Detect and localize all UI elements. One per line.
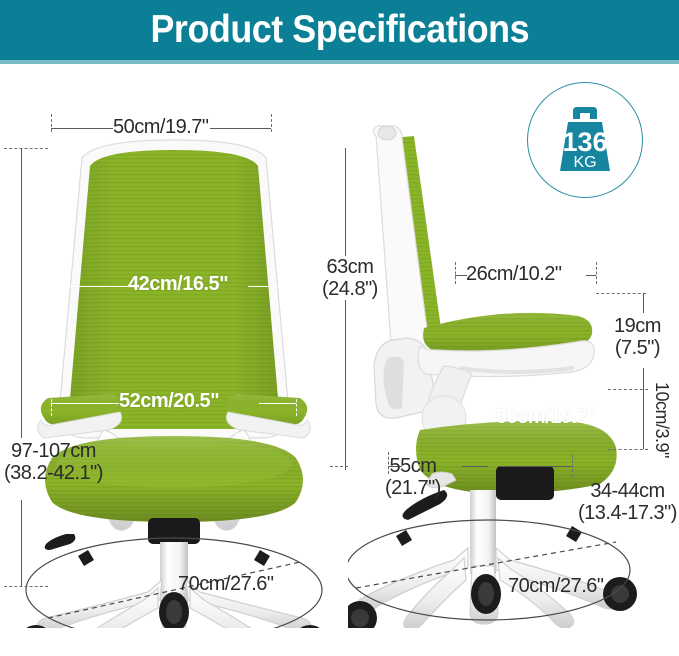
dim-label-seat-width: 52cm/20.5": [119, 390, 219, 412]
dim-label-seat-height: 34-44cm (13.4-17.3"): [578, 480, 677, 525]
dim-label-base-diameter-front: 70cm/27.6": [178, 573, 274, 595]
header-banner: Product Specifications: [0, 0, 679, 60]
dim-line-height-lower: [21, 500, 22, 586]
dim-ext-height-top: [4, 148, 48, 149]
dim-label-armrest-height-line1: 19cm: [614, 315, 661, 337]
dim-line-seat-thickness: [643, 389, 644, 449]
dim-line-back-width-right: [210, 128, 271, 129]
dim-label-overall-height-line1: 97-107cm: [4, 440, 103, 462]
dim-line-backrest-height-lower: [345, 300, 346, 470]
dim-ext-seat-bottom: [608, 449, 648, 450]
page-title: Product Specifications: [150, 8, 529, 52]
dim-label-base-depth-line1: 55cm: [385, 455, 441, 477]
dim-label-armrest-height-line2: (7.5"): [614, 337, 661, 359]
dim-tick-armrest-depth-right: [596, 262, 597, 284]
dim-line-backrest-width-left: [69, 286, 129, 287]
dim-line-base-depth-right: [462, 466, 488, 467]
dim-line-seat-width-left: [51, 403, 119, 404]
dim-line-armrest-height-upper: [643, 293, 644, 313]
seat-mechanism: [148, 518, 200, 544]
dim-line-armrest-depth-right: [586, 275, 596, 276]
dim-line-seat-height-base: [500, 466, 572, 467]
dim-label-back-width: 50cm/19.7": [113, 116, 209, 138]
dim-ext-height-bottom: [4, 586, 48, 587]
dim-label-base-depth: 55cm (21.7"): [385, 455, 441, 500]
dim-label-backrest-height-line1: 63cm: [322, 256, 378, 278]
header-divider: [0, 60, 679, 64]
dim-label-armrest-height: 19cm (7.5"): [614, 315, 661, 360]
dim-label-seat-height-line2: (13.4-17.3"): [578, 502, 677, 524]
dim-line-backrest-height-upper: [345, 148, 346, 256]
dim-tick-back-width-left: [51, 114, 52, 132]
dim-tick-seat-height: [572, 455, 573, 477]
office-chair-front-view: [8, 118, 338, 628]
dim-label-overall-height: 97-107cm (38.2-42.1"): [4, 440, 103, 485]
dim-line-seat-width-right: [259, 403, 296, 404]
product-specification-sheet: Product Specifications 136 KG: [0, 0, 679, 656]
dim-line-backrest-width-right: [248, 286, 284, 287]
dim-tick-seat-width-right: [296, 390, 297, 416]
dim-line-height-upper: [21, 148, 22, 438]
dim-label-backrest-width: 42cm/16.5": [128, 273, 228, 295]
dim-label-armrest-depth: 26cm/10.2": [466, 263, 562, 285]
dim-label-backrest-height-line2: (24.8"): [322, 278, 378, 300]
seat-mechanism-side: [496, 466, 554, 500]
dim-label-base-depth-line2: (21.7"): [385, 477, 441, 499]
gas-cylinder-side: [470, 490, 496, 574]
dim-ext-seat-height-left: [330, 466, 348, 467]
office-chair-side-view: [348, 118, 658, 628]
dim-ext-armrest-top: [596, 293, 646, 294]
dim-label-seat-height-line1: 34-44cm: [578, 480, 677, 502]
dim-line-armrest-height-lower: [643, 368, 644, 390]
dim-tick-armrest-depth-left: [455, 262, 456, 284]
dim-line-back-width-left: [51, 128, 113, 129]
dim-label-backrest-height: 63cm (24.8"): [322, 256, 378, 301]
tilt-lever: [45, 534, 76, 550]
dim-label-overall-height-line2: (38.2-42.1"): [4, 462, 103, 484]
dim-tick-back-width-right: [271, 114, 272, 132]
dim-label-base-diameter-side: 70cm/27.6": [508, 575, 604, 597]
dim-label-seat-depth: 50cm/19.7": [496, 406, 596, 428]
dim-label-seat-thickness: 10cm/3.9": [652, 382, 672, 458]
dim-ext-seat-top: [608, 389, 648, 390]
